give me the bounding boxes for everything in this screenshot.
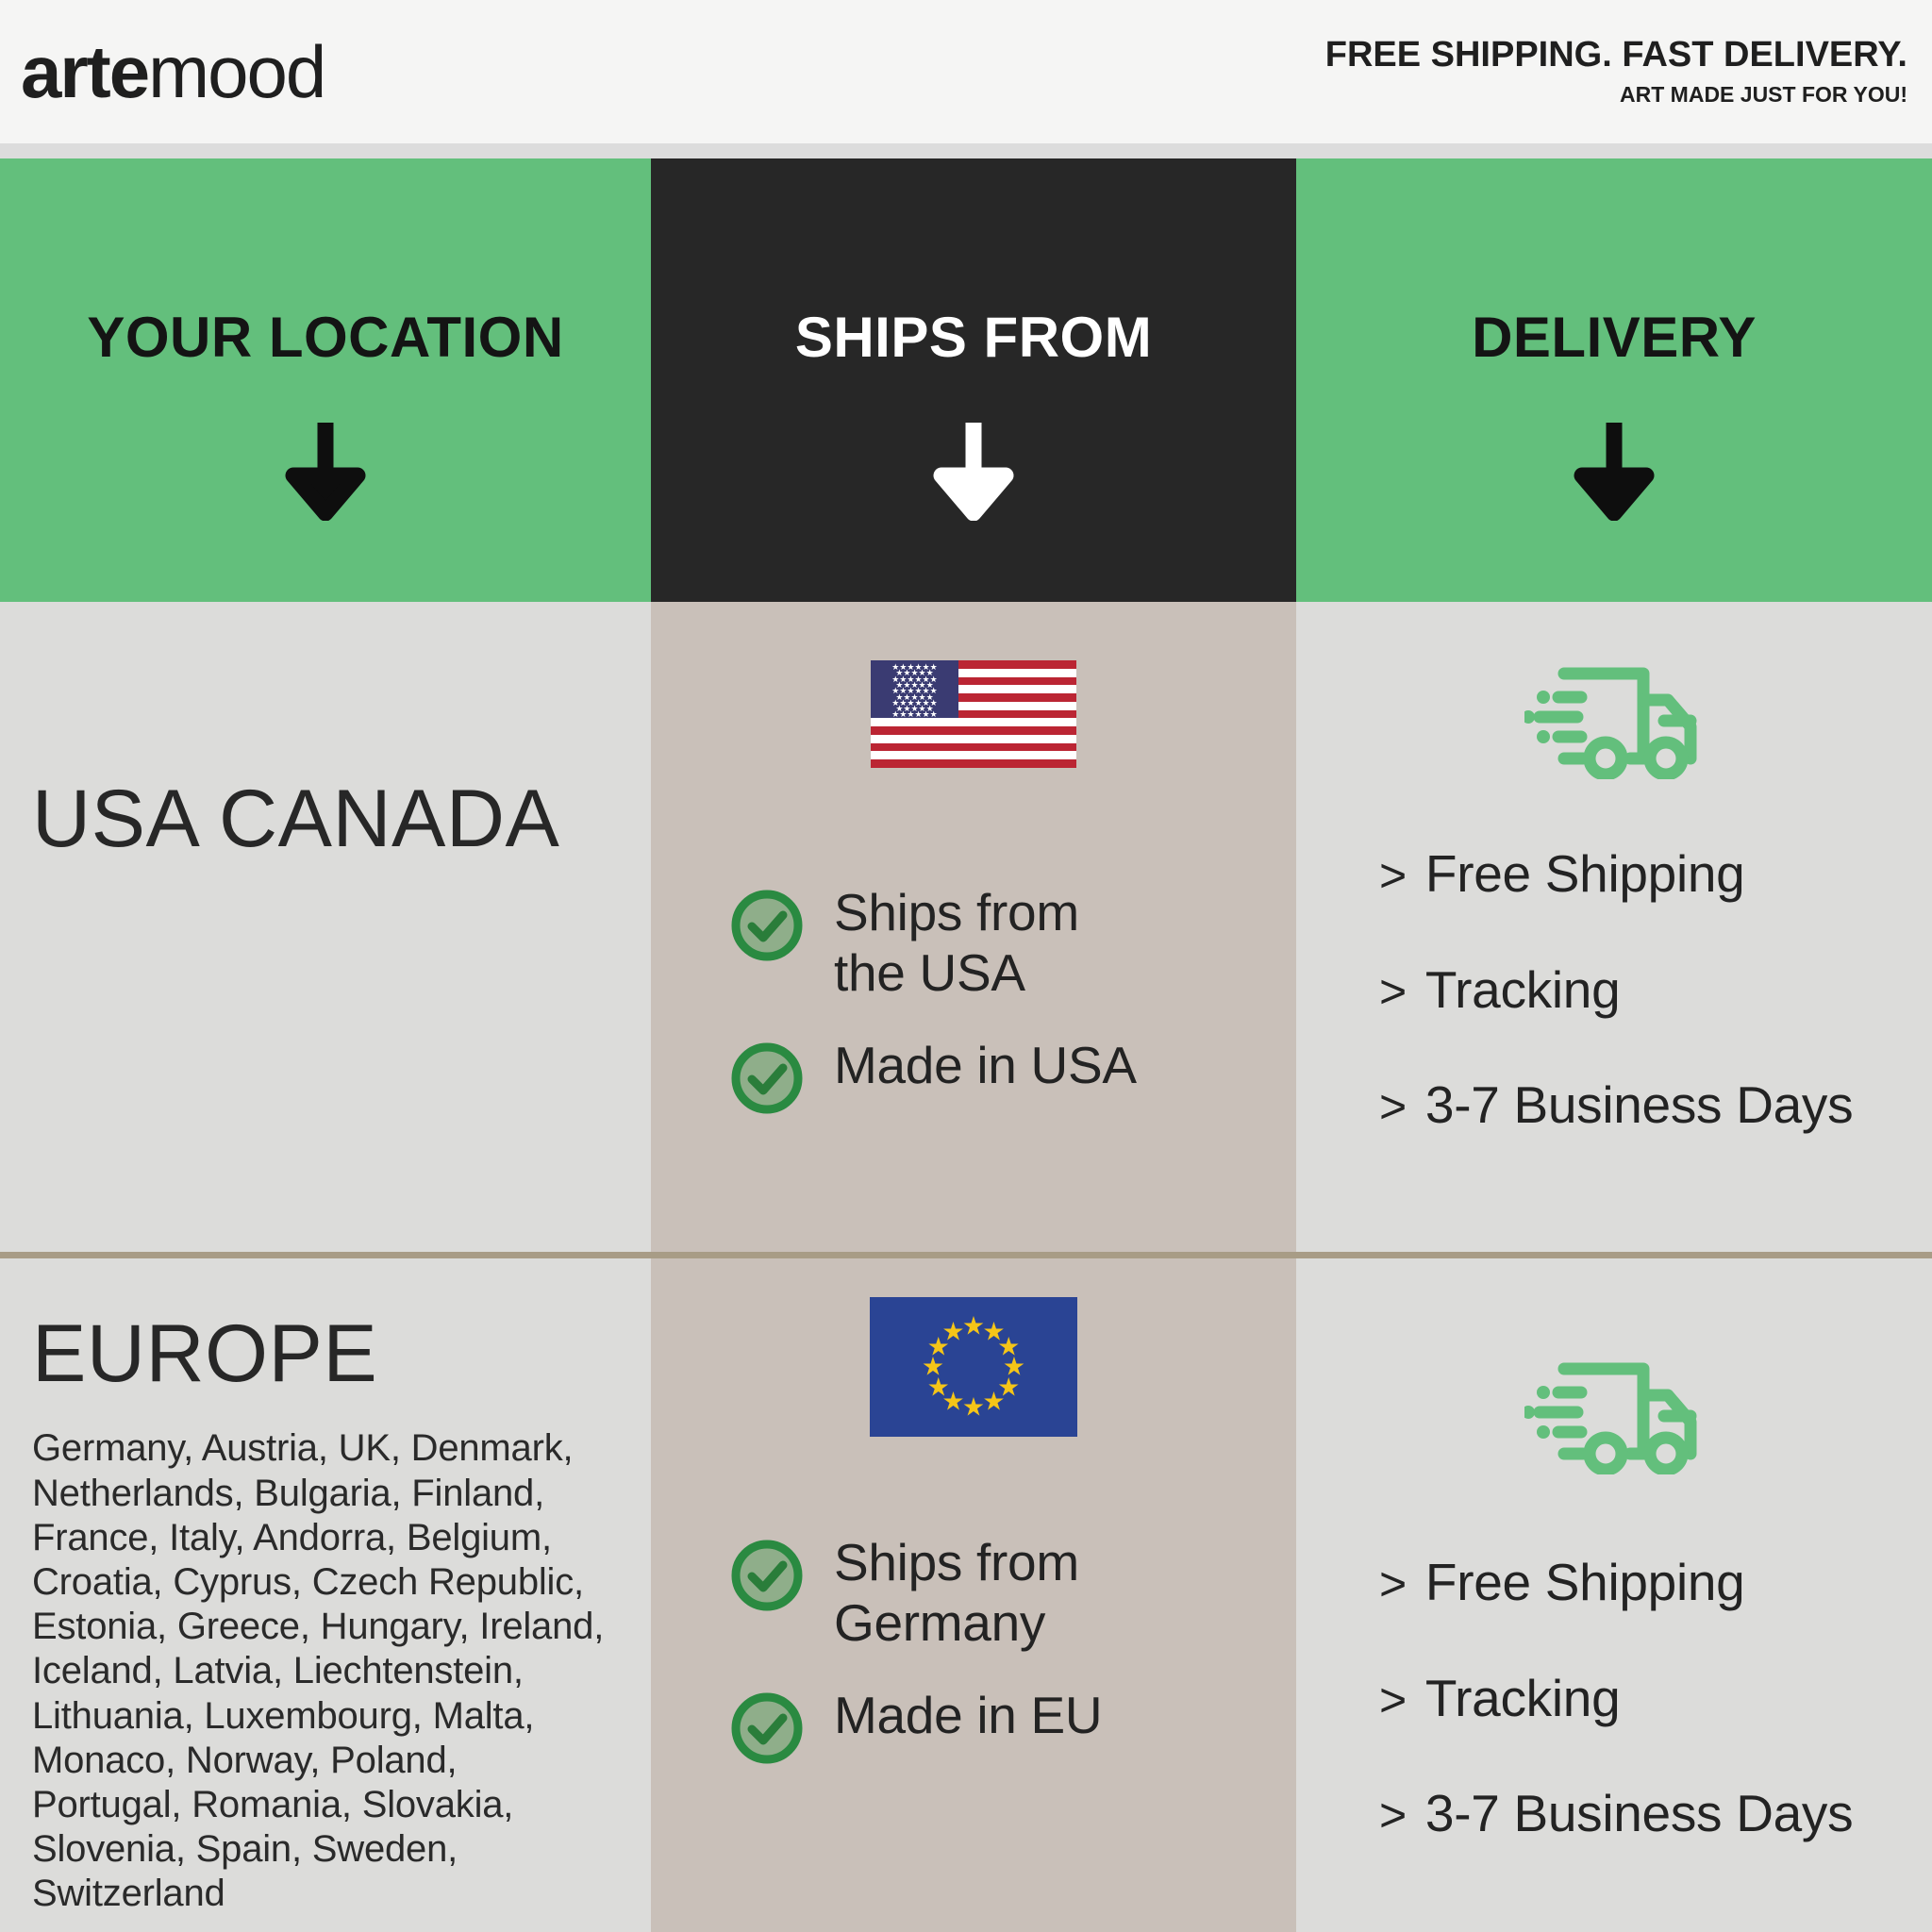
artemood-logo[interactable]: artemood (21, 35, 325, 108)
logo-regular-part: mood (148, 30, 325, 113)
cell-your-location-usa: USA CANADA (0, 602, 651, 1252)
cell-ships-from-usa: ★★★★★★★★★★★★★★★★★★★★★★★★★★★★★★★★★★★★★★★★… (651, 602, 1296, 1252)
list-item: Ships from the USA (728, 883, 1296, 1004)
list-item: > 3-7 Business Days (1379, 1076, 1932, 1134)
delivery-item-label: Free Shipping (1425, 1554, 1745, 1611)
cell-ships-from-europe: ★★★★★★★★★★★★ Ships from Germany (651, 1252, 1296, 1932)
list-item: > Tracking (1379, 1670, 1932, 1727)
flag-canton: ★★★★★★★★★★★★★★★★★★★★★★★★★★★★★★★★★★★★★★★★… (871, 660, 958, 718)
cell-your-location-europe: EUROPE Germany, Austria, UK, Denmark, Ne… (0, 1252, 651, 1932)
list-item: > Free Shipping (1379, 845, 1932, 903)
check-label: Ships from the USA (834, 883, 1079, 1004)
usa-flag-icon: ★★★★★★★★★★★★★★★★★★★★★★★★★★★★★★★★★★★★★★★★… (651, 602, 1296, 768)
eu-flag-star: ★ (962, 1395, 985, 1421)
band-column-delivery: DELIVERY (1296, 158, 1932, 602)
delivery-item-label: 3-7 Business Days (1425, 1076, 1853, 1134)
brand-header: artemood FREE SHIPPING. FAST DELIVERY. A… (0, 0, 1932, 143)
arrow-down-icon (1569, 423, 1659, 525)
flag-stripe (871, 726, 1076, 735)
delivery-item-label: 3-7 Business Days (1425, 1785, 1853, 1842)
tagline-block: FREE SHIPPING. FAST DELIVERY. ART MADE J… (1325, 37, 1907, 106)
list-item: > Tracking (1379, 961, 1932, 1019)
arrow-down-icon (928, 423, 1019, 525)
delivery-list-usa: > Free Shipping > Tracking > 3-7 Busines… (1296, 779, 1932, 1134)
arrow-down-icon (280, 423, 371, 525)
cell-delivery-europe: > Free Shipping > Tracking > 3-7 Busines… (1296, 1252, 1932, 1932)
location-title: EUROPE (32, 1252, 619, 1402)
check-circle-icon (728, 887, 806, 969)
band-column-your-location: YOUR LOCATION (0, 158, 651, 602)
delivery-list-europe: > Free Shipping > Tracking > 3-7 Busines… (1296, 1474, 1932, 1842)
chevron-right-icon: > (1379, 966, 1407, 1018)
ships-from-check-list-usa: Ships from the USA Made in USA (651, 768, 1296, 1122)
flag-stripe (871, 743, 1076, 752)
check-label: Ships from Germany (834, 1533, 1079, 1654)
check-circle-icon (728, 1690, 806, 1772)
check-label: Made in EU (834, 1686, 1102, 1746)
table-row: USA CANADA ★★★★★★★★★★★★★★★★★★★★★★★★★★★★★… (0, 602, 1932, 1252)
location-title: USA CANADA (32, 602, 619, 867)
delivery-item-label: Free Shipping (1425, 845, 1745, 903)
delivery-item-label: Tracking (1425, 961, 1620, 1019)
band-title-your-location: YOUR LOCATION (87, 309, 563, 366)
band-title-ships-from: SHIPS FROM (795, 309, 1152, 366)
logo-bold-part: arte (21, 30, 148, 113)
cell-delivery-usa: > Free Shipping > Tracking > 3-7 Busines… (1296, 602, 1932, 1252)
list-item: > Free Shipping (1379, 1554, 1932, 1611)
chevron-right-icon: > (1379, 1674, 1407, 1726)
tagline-main: FREE SHIPPING. FAST DELIVERY. (1325, 37, 1907, 75)
eu-flag-star: ★ (982, 1390, 1005, 1415)
list-item: Made in EU (728, 1686, 1296, 1772)
check-label: Made in USA (834, 1036, 1137, 1096)
row-divider (0, 1252, 1932, 1258)
header-divider (0, 143, 1932, 158)
delivery-truck-icon (1296, 602, 1932, 779)
column-header-band: YOUR LOCATION SHIPS FROM DELIVERY (0, 158, 1932, 602)
chevron-right-icon: > (1379, 1790, 1407, 1841)
eu-flag-icon: ★★★★★★★★★★★★ (651, 1252, 1296, 1437)
check-circle-icon (728, 1537, 806, 1619)
chevron-right-icon: > (1379, 850, 1407, 902)
shipping-rows: USA CANADA ★★★★★★★★★★★★★★★★★★★★★★★★★★★★★… (0, 602, 1932, 1932)
band-column-ships-from: SHIPS FROM (651, 158, 1296, 602)
country-list: Germany, Austria, UK, Denmark, Netherlan… (32, 1426, 619, 1916)
flag-star-row: ★★★★★★ (871, 710, 958, 718)
tagline-sub: ART MADE JUST FOR YOU! (1325, 83, 1907, 106)
delivery-truck-icon (1296, 1252, 1932, 1474)
check-circle-icon (728, 1040, 806, 1122)
delivery-item-label: Tracking (1425, 1670, 1620, 1727)
band-title-delivery: DELIVERY (1472, 309, 1757, 366)
flag-stripe (871, 759, 1076, 768)
chevron-right-icon: > (1379, 1081, 1407, 1133)
table-row: EUROPE Germany, Austria, UK, Denmark, Ne… (0, 1252, 1932, 1932)
list-item: > 3-7 Business Days (1379, 1785, 1932, 1842)
shipping-info-infographic: artemood FREE SHIPPING. FAST DELIVERY. A… (0, 0, 1932, 1932)
eu-flag-star: ★ (941, 1319, 964, 1344)
ships-from-check-list-europe: Ships from Germany Made in EU (651, 1437, 1296, 1772)
chevron-right-icon: > (1379, 1558, 1407, 1610)
list-item: Made in USA (728, 1036, 1296, 1122)
list-item: Ships from Germany (728, 1533, 1296, 1654)
